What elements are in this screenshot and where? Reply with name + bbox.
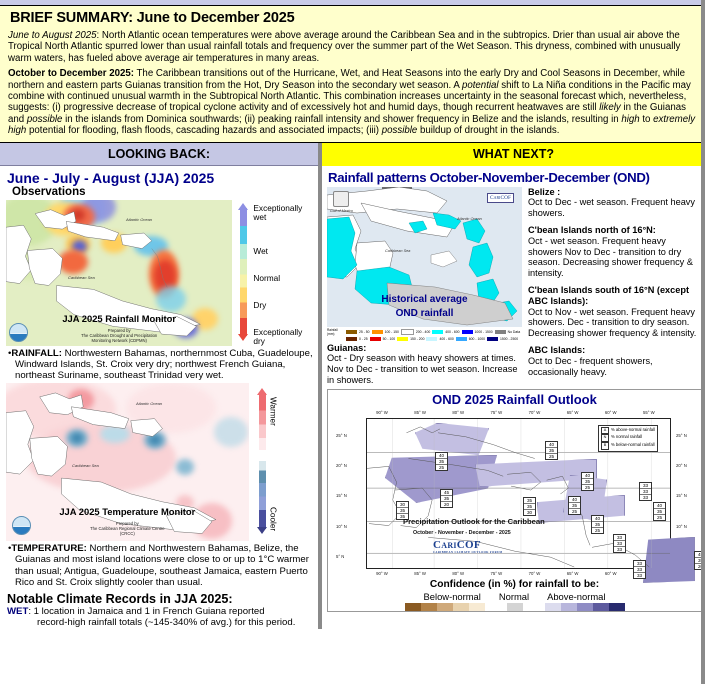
region-north-16n-text: Oct - wet season. Frequent heavy showers…: [528, 236, 701, 279]
what-next-column: Rainfall patterns October-November-Decem…: [322, 166, 705, 629]
cb-exceptionally-wet: Exceptionally wet: [253, 204, 314, 223]
below-normal-swatch-2: [437, 603, 453, 611]
region-belize: Belize : Oct to Dec - wet season. Freque…: [528, 187, 701, 219]
atlantic-ocean-label-temp: Atlantic Ocean: [136, 401, 162, 406]
summary-paragraph-2: October to December 2025: The Caribbean …: [8, 68, 697, 136]
legend-desc-a: % above-normal rainfall: [611, 427, 655, 432]
confidence-label-below: Below-normal: [424, 591, 481, 602]
record-item-wet: WET: 1 location in Jamaica and 1 in Fren…: [7, 606, 314, 629]
xbot-tick-3: 75° W: [490, 571, 502, 576]
temperature-summary-bullet: •TEMPERATURE: Northern and Northwestern …: [8, 543, 314, 589]
xtop-tick-7: 55° W: [643, 410, 655, 415]
hist-map-shapes: [327, 187, 522, 327]
legend-label-1: 100 - 150: [385, 330, 399, 334]
region-north-16n-name: C'bean Islands north of 16°N:: [528, 225, 701, 236]
caricof-logo-subtext: CARIBBEAN CLIMATE OUTLOOK FORUM: [433, 551, 502, 554]
confidence-label-above: Above-normal: [547, 591, 605, 602]
prob-b: 25: [569, 509, 580, 514]
section-header-band: LOOKING BACK: WHAT NEXT?: [0, 143, 705, 166]
legend-label-0: 25 - 50: [359, 330, 370, 334]
s2i1: potential: [462, 80, 499, 91]
looking-back-header: LOOKING BACK:: [0, 143, 318, 166]
cb-cooler: Cooler: [269, 507, 278, 531]
xtop-tick-5: 65° W: [567, 410, 579, 415]
confidence-label-normal: Normal: [499, 591, 529, 602]
atlantic-ocean-label-hist: Atlantic Ocean: [457, 217, 482, 221]
rainfall-colorbar: Exceptionally wet Wet Normal Dry Excepti…: [232, 200, 314, 346]
yright-tick-2: 15° N: [676, 493, 687, 498]
jja-rainfall-map-title: JJA 2025 Rainfall Monitor: [6, 313, 232, 324]
yright-tick-1: 20° N: [676, 463, 687, 468]
caribbean-sea-label-hist: Caribbean Sea: [385, 249, 410, 253]
historical-ond-rainfall-map: Gulf of Mexico Atlantic Ocean Caribbean …: [327, 187, 522, 327]
legend-label-7: 50 - 100: [383, 337, 395, 341]
region-abc-islands-name: ABC Islands:: [528, 345, 701, 356]
page-title: BRIEF SUMMARY: June to December 2025: [10, 10, 697, 26]
legend-row-n: N% normal rainfall: [601, 434, 655, 442]
historical-ond-map-wrap: Gulf of Mexico Atlantic Ocean Caribbean …: [327, 187, 522, 386]
probability-box-guyana: 333333: [633, 560, 646, 579]
s2d: in the islands from Dominica southwards;…: [62, 114, 621, 125]
above-normal-swatch-0: [545, 603, 561, 611]
observations-label: Observations: [12, 186, 314, 198]
s2i4: high: [621, 114, 639, 125]
confidence-category-labels: Below-normal Normal Above-normal: [328, 591, 701, 602]
yright-tick-0: 25° N: [676, 433, 687, 438]
probability-box-w-cuba: 453520: [440, 489, 453, 508]
caribbean-sea-label-temp: Caribbean Sea: [72, 463, 99, 468]
s2i3: possible: [27, 114, 63, 125]
legend-row-b: B% below-normal rainfall: [601, 442, 655, 450]
legend-swatch-0: [346, 330, 357, 334]
caribbean-sea-label: Caribbean Sea: [68, 275, 95, 280]
probability-box-hispaniola-n: 403525: [581, 472, 594, 491]
agency-logo-icon: [333, 191, 349, 207]
legend-swatch-10: [456, 337, 467, 341]
probability-box-leewards: 403525: [653, 502, 666, 521]
temperature-bullet-lead: TEMPERATURE:: [11, 543, 87, 554]
xtop-tick-6: 60° W: [605, 410, 617, 415]
legend-label-4: 1000 - 1500: [475, 330, 493, 334]
hist-map-caption-line1: Historical average: [327, 294, 522, 305]
legend-desc-n: % normal rainfall: [611, 434, 642, 439]
xtop-tick-1: 85° W: [414, 410, 426, 415]
legend-key-b: B: [601, 442, 609, 450]
prob-b: 33: [614, 547, 625, 552]
legend-title: Rainfall (mm): [327, 328, 344, 336]
probability-box-nw-cuba: 403525: [435, 452, 448, 471]
looking-back-column: June - July - August (JJA) 2025 Observat…: [0, 166, 318, 629]
legend-desc-b: % below-normal rainfall: [611, 442, 655, 447]
region-abc-islands-text: Oct to Dec - frequent showers, occasiona…: [528, 356, 701, 378]
outlook-caption-main: Precipitation Outlook for the Caribbean: [403, 517, 545, 526]
probability-box-jamaica: 353530: [523, 497, 536, 516]
legend-swatch-6: [346, 337, 357, 341]
region-south-16n-text: Oct to Nov - wet season. Frequent heavy …: [528, 307, 701, 339]
s2i2: likely: [599, 102, 621, 113]
prob-b: 25: [546, 454, 557, 459]
xbot-tick-2: 80° W: [452, 571, 464, 576]
outlook-caption-sub: October - November - December - 2025: [413, 530, 511, 536]
legend-swatch-2: [401, 329, 414, 335]
ond-rainfall-outlook-panel: OND 2025 Rainfall Outlook 90° W85° W80° …: [327, 389, 702, 612]
atlantic-ocean-label: Atlantic Ocean: [126, 217, 152, 222]
summary-p1-lead: June to August 2025: [8, 30, 97, 41]
region-belize-name: Belize :: [528, 187, 701, 198]
cb-dry: Dry: [253, 301, 266, 311]
prob-b: 33: [634, 573, 645, 578]
region-guianas-name: Guianas:: [327, 343, 520, 354]
region-abc-islands: ABC Islands: Oct to Dec - frequent showe…: [528, 345, 701, 377]
outlook-legend: A% above-normal rainfall N% normal rainf…: [598, 425, 658, 452]
s2e: to: [640, 114, 653, 125]
yleft-tick-0: 25° N: [336, 433, 347, 438]
xbot-tick-1: 85° W: [414, 571, 426, 576]
legend-swatch-11: [487, 337, 498, 341]
probability-box-abc-islands: 333333: [613, 534, 626, 553]
cdpmn-logo-icon: [9, 323, 28, 342]
jja-temperature-map-title: JJA 2025 Temperature Monitor: [6, 506, 249, 517]
temperature-colorbar: Warmer Cooler: [249, 383, 314, 541]
legend-label-10: 600 - 1000: [469, 337, 485, 341]
normal-swatch-0: [507, 603, 523, 611]
outlook-title: OND 2025 Rainfall Outlook: [328, 390, 701, 407]
caricof-logo-outlook: CariCOF CARIBBEAN CLIMATE OUTLOOK FORUM: [433, 539, 502, 554]
s2g: buildup of drought in the islands.: [417, 125, 559, 136]
yleft-tick-3: 10° N: [336, 524, 347, 529]
probability-box-s-caribbean: 403525: [591, 515, 604, 534]
legend-label-9: 400 - 600: [439, 337, 453, 341]
xbot-tick-6: 60° W: [605, 571, 617, 576]
legend-swatch-4: [462, 330, 473, 334]
prob-b: 30: [524, 510, 535, 515]
brief-summary-panel: BRIEF SUMMARY: June to December 2025 Jun…: [0, 5, 705, 143]
caricof-logo-text: CariCOF: [433, 539, 481, 551]
confidence-color-bar: [328, 603, 701, 611]
legend-swatch-1: [372, 330, 383, 334]
confidence-segment-below: [405, 603, 485, 611]
legend-label-2: 200 - 400: [416, 330, 430, 334]
content-columns: June - July - August (JJA) 2025 Observat…: [0, 166, 705, 629]
probability-box-hispaniola-s: 403525: [568, 496, 581, 515]
below-normal-swatch-3: [453, 603, 469, 611]
notable-records-title: Notable Climate Records in JJA 2025:: [7, 592, 314, 606]
legend-swatch-3: [432, 330, 443, 334]
crcc-logo-icon: [12, 516, 31, 535]
legend-label-3: 400 - 600: [445, 330, 459, 334]
credit-l3: Monitoring Network (CDPMN): [6, 338, 232, 343]
legend-label-11: 1500 - 2500: [500, 337, 518, 341]
probability-box-bahamas: 403525: [545, 441, 558, 460]
yleft-tick-2: 15° N: [336, 493, 347, 498]
region-south-16n-name: C'bean Islands south of 16°N (except ABC…: [528, 285, 701, 307]
hist-map-legend: Rainfall (mm) 25 - 50 100 - 150 200 - 40…: [327, 328, 522, 341]
jja-season-title: June - July - August (JJA) 2025: [7, 170, 314, 186]
jja-rainfall-map: Atlantic Ocean Caribbean Sea JJA 2025 Ra…: [6, 200, 232, 346]
outlook-map-frame: A% above-normal rainfall N% normal rainf…: [366, 418, 671, 569]
hist-map-and-regions: Gulf of Mexico Atlantic Ocean Caribbean …: [327, 187, 701, 386]
probability-box-puerto-rico: 333333: [639, 482, 652, 501]
confidence-segment-normal: [507, 603, 523, 611]
xbot-tick-5: 65° W: [567, 571, 579, 576]
region-belize-text: Oct to Dec - wet season. Frequent heavy …: [528, 197, 701, 219]
cb-normal: Normal: [253, 274, 280, 284]
legend-key-n: N: [601, 434, 609, 442]
yleft-tick-4: 5° N: [336, 554, 344, 559]
record-key-wet: WET: [7, 606, 28, 617]
legend-row-a: A% above-normal rainfall: [601, 427, 655, 435]
gulf-of-mexico-label: Gulf of Mexico: [330, 209, 353, 213]
jja-temperature-map: Atlantic Ocean Caribbean Sea JJA 2025 Te…: [6, 383, 249, 541]
legend-swatch-5: [495, 330, 506, 334]
prob-b: 33: [640, 495, 651, 500]
what-next-header: WHAT NEXT?: [322, 143, 705, 166]
jja-rainfall-credit: Prepared by The Caribbean Drought and Pr…: [6, 328, 232, 343]
region-north-16n: C'bean Islands north of 16°N: Oct - wet …: [528, 225, 701, 279]
legend-label-6: 0 - 25: [359, 337, 368, 341]
legend-swatch-7: [370, 337, 381, 341]
rainfall-bullet-lead: RAINFALL:: [11, 348, 62, 359]
prob-b: 25: [654, 515, 665, 520]
prob-b: 25: [592, 528, 603, 533]
legend-key-a: A: [601, 427, 609, 435]
above-normal-swatch-3: [593, 603, 609, 611]
xbot-tick-4: 70° W: [529, 571, 541, 576]
prob-b: 20: [441, 502, 452, 507]
bulletin-page: BRIEF SUMMARY: June to December 2025 Jun…: [0, 0, 705, 684]
region-descriptions: Belize : Oct to Dec - wet season. Freque…: [528, 187, 701, 386]
xtop-tick-0: 90° W: [376, 410, 388, 415]
outlook-map: 90° W85° W80° W75° W70° W65° W60° W55° W…: [328, 407, 701, 581]
s2f: potential for flooding, flash floods, ca…: [26, 125, 381, 136]
rainfall-summary-bullet: •RAINFALL: Northwestern Bahamas, norther…: [8, 348, 314, 382]
s2i6: possible: [382, 125, 418, 136]
prob-b: 25: [582, 485, 593, 490]
xtop-tick-4: 70° W: [529, 410, 541, 415]
yright-tick-3: 10° N: [676, 524, 687, 529]
region-guianas-text: Oct - Dry season with heavy showers at t…: [327, 353, 520, 385]
summary-p2-lead: October to December 2025:: [8, 68, 134, 79]
cb-exceptionally-dry: Exceptionally dry: [253, 328, 313, 347]
right-edge-rule: [701, 0, 705, 684]
below-normal-swatch-1: [421, 603, 437, 611]
region-guianas: Guianas: Oct - Dry season with heavy sho…: [327, 343, 520, 386]
jja-temperature-credit: Prepared by The Caribbean Regional Clima…: [6, 521, 249, 536]
below-normal-swatch-0: [405, 603, 421, 611]
rainfall-patterns-title: Rainfall patterns October-November-Decem…: [328, 170, 701, 185]
confidence-segment-above: [545, 603, 625, 611]
region-south-16n: C'bean Islands south of 16°N (except ABC…: [528, 285, 701, 339]
above-normal-swatch-4: [609, 603, 625, 611]
above-normal-swatch-2: [577, 603, 593, 611]
legend-swatch-8: [397, 337, 408, 341]
yleft-tick-1: 20° N: [336, 463, 347, 468]
below-normal-swatch-4: [469, 603, 485, 611]
hist-map-caption-line2: OND rainfall: [327, 308, 522, 319]
legend-label-8: 150 - 200: [410, 337, 424, 341]
xtop-tick-2: 80° W: [452, 410, 464, 415]
legend-label-5: No Data: [508, 330, 520, 334]
tcredit-l3: (CRCC): [6, 531, 249, 536]
prob-b: 25: [436, 465, 447, 470]
record-text-wet: : 1 location in Jamaica and 1 in French …: [28, 606, 264, 617]
xbot-tick-0: 90° W: [376, 571, 388, 576]
legend-swatch-9: [426, 337, 437, 341]
above-normal-swatch-1: [561, 603, 577, 611]
caricof-logo-hist: CariCOF: [487, 193, 514, 203]
record-indent-wet: record-high rainfall totals (~145-340% o…: [7, 617, 314, 629]
xtop-tick-3: 75° W: [490, 410, 502, 415]
cb-warmer: Warmer: [269, 397, 278, 426]
summary-paragraph-1: June to August 2025: North Atlantic ocea…: [8, 30, 697, 64]
summary-p1-body: : North Atlantic ocean temperatures were…: [8, 30, 680, 64]
cb-wet: Wet: [253, 247, 268, 257]
